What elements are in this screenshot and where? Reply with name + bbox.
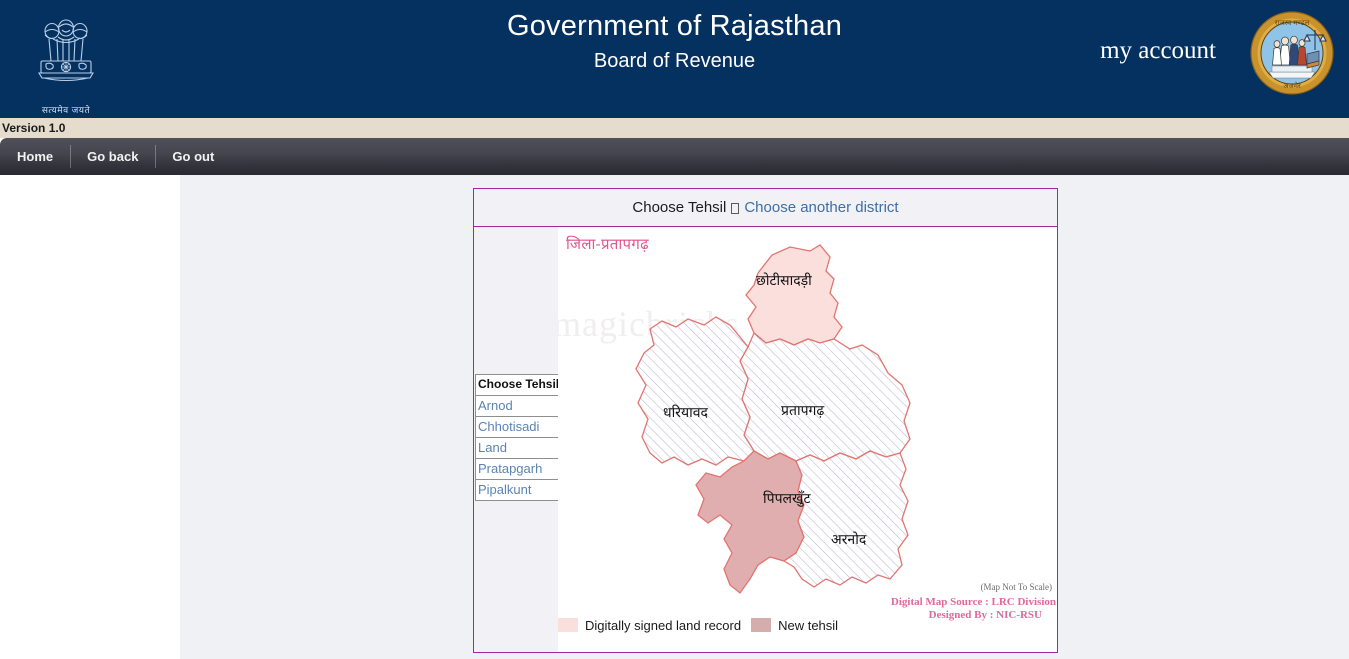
tehsil-list-column: Choose Tehsil Arnod Chhotisadi Land Prat [474,227,558,652]
nav-item-home[interactable]: Home [0,138,70,175]
main-nav: Home Go back Go out [0,138,1349,175]
map-legend: Digitally signed land record New tehsil [473,612,1058,638]
map-region-dhariyawad [636,317,754,465]
table-row[interactable]: Land [476,438,562,459]
map-source-credit: Digital Map Source : LRC Division [891,596,1056,608]
tehsil-link-pipalkunt[interactable]: Pipalkunt [478,482,531,497]
missing-glyph-icon [731,203,739,214]
my-account-link[interactable]: my account [1100,37,1216,65]
table-row[interactable]: Arnod [476,396,562,417]
table-row: Choose Tehsil [476,375,562,396]
map-label-pipalkunt: पिपलखुँट [763,489,811,508]
panel-header: Choose Tehsil Choose another district [474,189,1057,227]
map-label-arnod: अरनोद [831,530,866,549]
page-body: Choose Tehsil Choose another district Ch… [0,175,1349,659]
map-label-chhotisadi: छोटीसादड़ी [756,271,812,290]
tehsil-link-pratapgarh[interactable]: Pratapgarh [478,461,542,476]
table-row[interactable]: Pratapgarh [476,459,562,480]
map-region-pratapgarh [740,333,910,461]
svg-text:राजस्व मण्डल: राजस्व मण्डल [1275,20,1310,27]
legend-label-new-tehsil: New tehsil [778,618,838,633]
svg-text:अजमेर: अजमेर [1283,81,1301,90]
tehsil-list-header: Choose Tehsil [476,375,562,396]
map-region-arnod [784,451,908,587]
tehsil-link-chhotisadi[interactable]: Chhotisadi [478,419,539,434]
legend-item-digitally-signed: Digitally signed land record [558,618,741,633]
legend-swatch-digitally-signed [558,618,578,632]
version-label: Version 1.0 [2,121,65,135]
tehsil-link-land[interactable]: Land [478,440,507,455]
district-map-canvas: जिला-प्रतापगढ़ magicbricks [558,227,1057,652]
map-label-pratapgarh: प्रतापगढ़ [781,401,824,420]
legend-label-digitally-signed: Digitally signed land record [585,618,741,633]
board-of-revenue-seal-icon: राजस्व मण्डल अजमेर [1249,10,1335,96]
tehsil-list-table: Choose Tehsil Arnod Chhotisadi Land Prat [475,374,562,501]
ashoka-emblem: सत्यमेव जयते [26,4,106,116]
table-row[interactable]: Chhotisadi [476,417,562,438]
map-region-chhotisadi [746,245,842,345]
table-row[interactable]: Pipalkunt [476,480,562,501]
map-scale-note: (Map Not To Scale) [981,582,1052,592]
legend-swatch-new-tehsil [751,618,771,632]
tehsil-link-arnod[interactable]: Arnod [478,398,513,413]
panel-header-label: Choose Tehsil [632,199,726,216]
panel-body: Choose Tehsil Arnod Chhotisadi Land Prat [474,227,1057,652]
nav-item-go-back[interactable]: Go back [70,138,155,175]
nav-item-go-out[interactable]: Go out [155,138,231,175]
legend-item-new-tehsil: New tehsil [751,618,838,633]
left-column [0,175,180,659]
tehsil-map-panel: Choose Tehsil Choose another district Ch… [473,188,1058,653]
emblem-motto: सत्यमेव जयते [42,103,90,116]
choose-another-district-link[interactable]: Choose another district [744,199,898,216]
version-bar: Version 1.0 [0,118,1349,138]
map-region-pipalkunt [696,451,804,593]
site-header: सत्यमेव जयते Government of Rajasthan Boa… [0,0,1349,118]
map-label-dhariyawad: धरियावद [663,403,708,422]
